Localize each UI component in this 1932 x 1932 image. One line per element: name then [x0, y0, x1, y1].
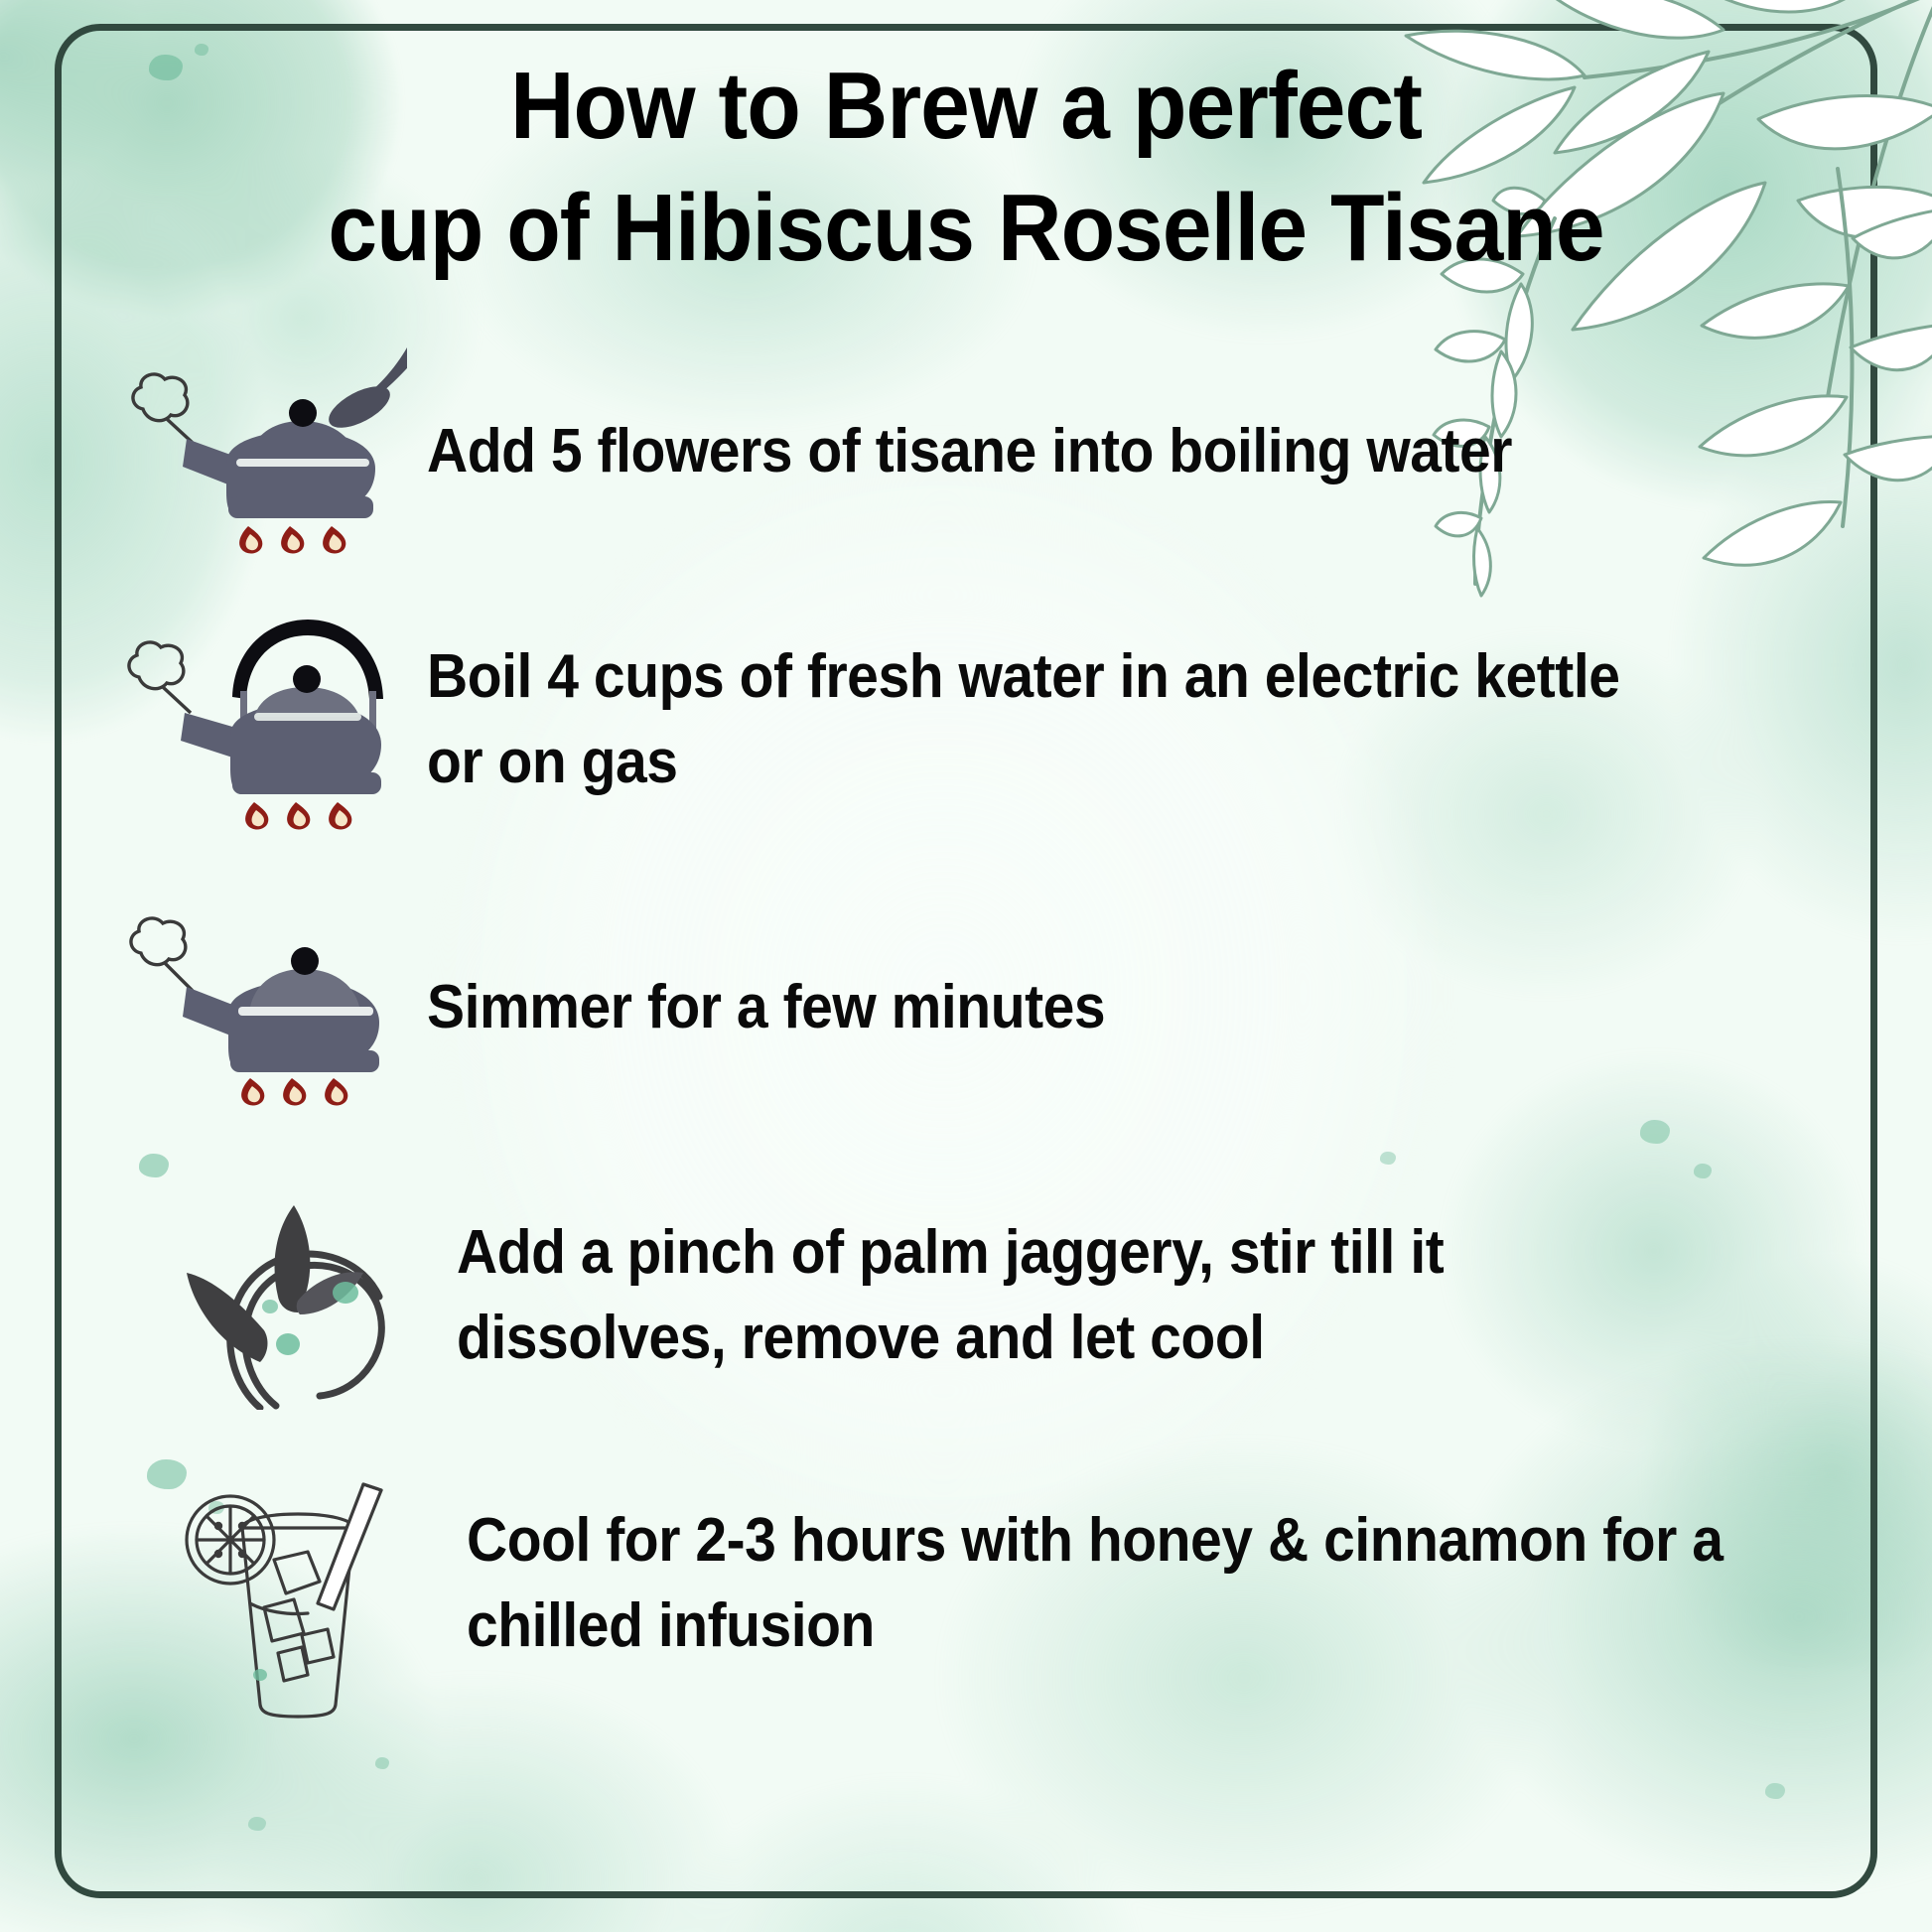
- step-text: Cool for 2-3 hours with honey & cinnamon…: [467, 1498, 1727, 1668]
- steps-list: Add 5 flowers of tisane into boiling wat…: [0, 328, 1932, 1727]
- list-item: Add 5 flowers of tisane into boiling wat…: [0, 328, 1932, 576]
- teapot-with-spoon-and-flames-icon: [109, 347, 407, 556]
- step-text: Add a pinch of palm jaggery, stir till i…: [457, 1210, 1718, 1380]
- teapot-with-flames-icon: [109, 903, 407, 1112]
- kettle-with-handle-and-flames-icon: [109, 616, 407, 824]
- list-item: Boil 4 cups of fresh water in an electri…: [0, 576, 1932, 864]
- list-item: Add a pinch of palm jaggery, stir till i…: [0, 1152, 1932, 1440]
- page-title: How to Brew a perfect cup of Hibiscus Ro…: [68, 46, 1864, 290]
- infographic-poster: How to Brew a perfect cup of Hibiscus Ro…: [0, 0, 1932, 1932]
- leaf-swirl-icon: [139, 1191, 437, 1400]
- step-text: Boil 4 cups of fresh water in an electri…: [427, 634, 1688, 804]
- paint-speckle: [1765, 1783, 1785, 1799]
- step-text: Simmer for a few minutes: [427, 965, 1105, 1050]
- paint-speckle: [248, 1817, 266, 1831]
- list-item: Cool for 2-3 hours with honey & cinnamon…: [0, 1440, 1932, 1727]
- step-text: Add 5 flowers of tisane into boiling wat…: [427, 409, 1512, 494]
- iced-drink-glass-icon: [149, 1454, 447, 1713]
- list-item: Simmer for a few minutes: [0, 864, 1932, 1152]
- paint-speckle: [375, 1757, 389, 1769]
